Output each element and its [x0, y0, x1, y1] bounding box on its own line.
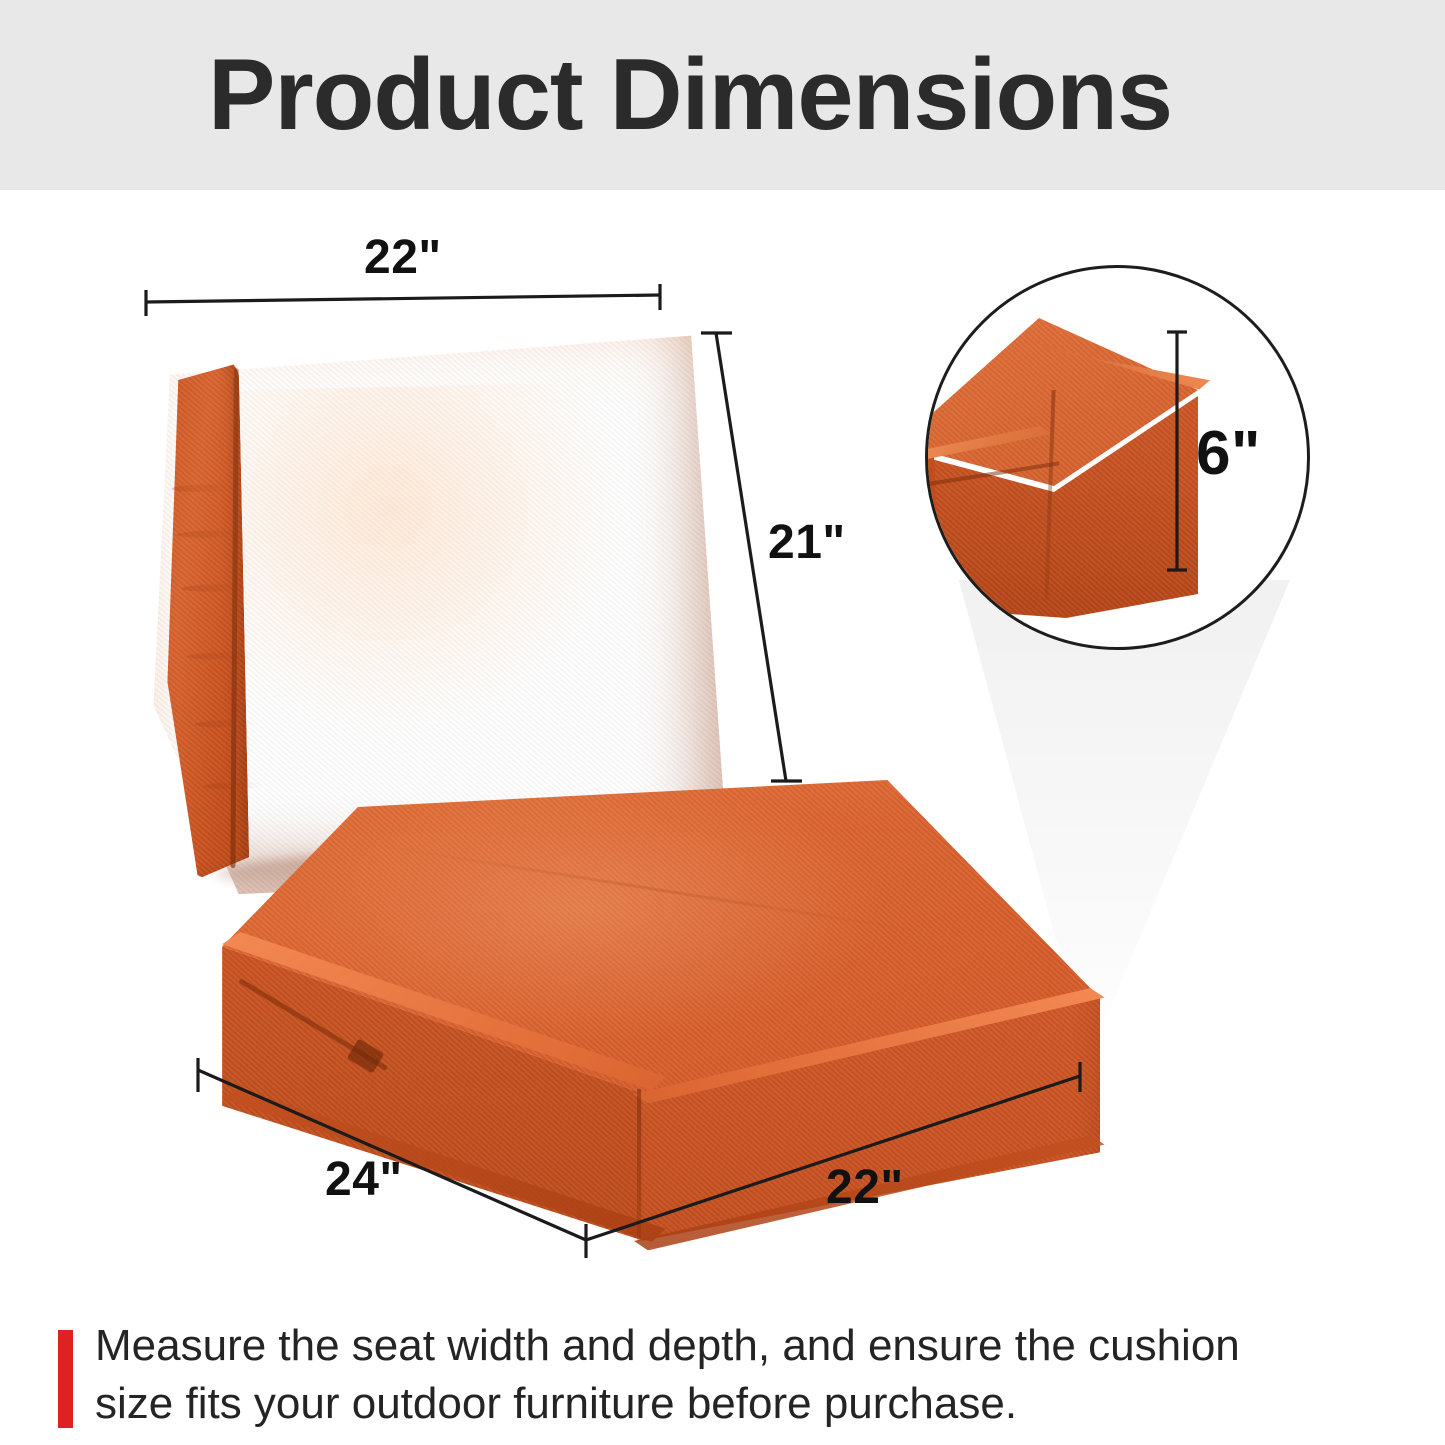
- dimension-label-back-width: 22": [364, 230, 442, 285]
- product-illustration-stage: 6" 22" 21" 24" 22": [0, 190, 1445, 1295]
- caption-accent-bar: [58, 1330, 73, 1428]
- thickness-callout-circle: 6": [925, 265, 1310, 650]
- dimension-label-back-height: 21": [768, 515, 846, 570]
- dimension-label-seat-width: 22": [826, 1160, 904, 1215]
- cushion-corner-closeup: [925, 318, 1198, 618]
- header-banner: Product Dimensions: [0, 0, 1445, 190]
- caption-text: Measure the seat width and depth, and en…: [95, 1317, 1325, 1433]
- dimension-label-thickness: 6": [1196, 418, 1261, 489]
- caption-section: Measure the seat width and depth, and en…: [0, 1295, 1445, 1445]
- product-dimensions-infographic: Product Dimensions: [0, 0, 1445, 1445]
- dimension-label-seat-depth: 24": [325, 1152, 403, 1207]
- dimension-line-thickness: [1167, 330, 1187, 580]
- dimension-line-back-width: [140, 290, 670, 320]
- page-title: Product Dimensions: [208, 45, 1172, 146]
